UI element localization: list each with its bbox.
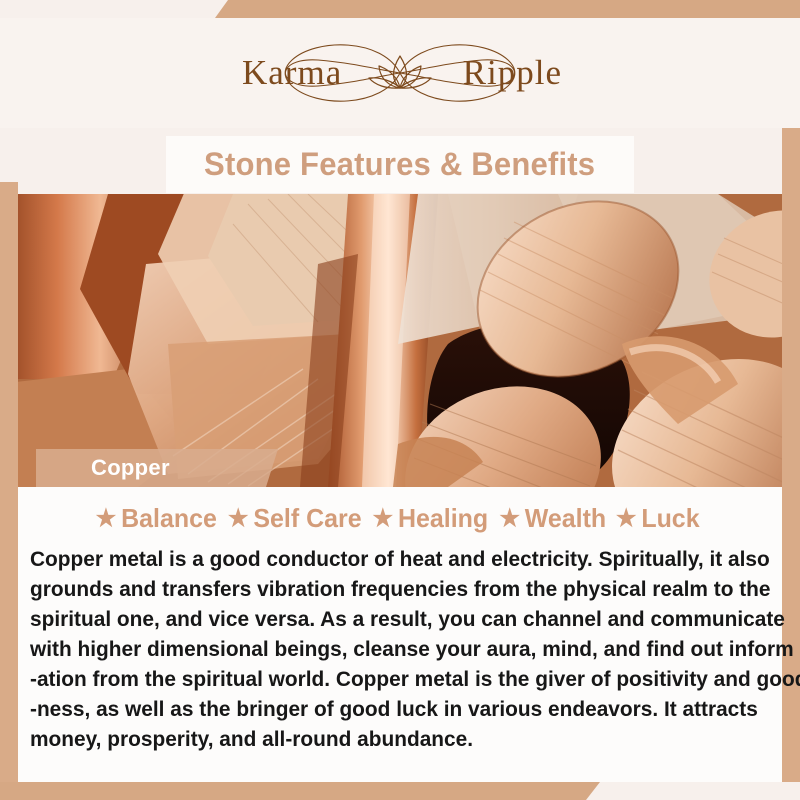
benefits-row: ★ Balance ★ Self Care ★ Healing ★ Wealth…	[18, 487, 782, 534]
description-line: spiritual one, and vice versa. As a resu…	[30, 604, 752, 634]
benefit-item-healing: ★ Healing	[373, 503, 494, 534]
description-line: with higher dimensional beings, cleanse …	[30, 634, 752, 664]
star-icon: ★	[499, 507, 520, 531]
benefit-item-wealth: ★ Wealth	[499, 503, 612, 534]
title-panel: Stone Features & Benefits	[166, 136, 634, 193]
logo-word-ripple: Ripple	[463, 53, 562, 93]
benefit-label: Wealth	[525, 503, 606, 534]
description-line: money, prosperity, and all-round abundan…	[30, 724, 752, 754]
brand-logo: Karma Ripple	[230, 30, 570, 116]
top-accent-band	[215, 0, 800, 18]
benefit-label: Healing	[398, 503, 488, 534]
benefit-label: Balance	[121, 503, 217, 534]
benefit-label: Self Care	[253, 503, 361, 534]
star-icon: ★	[616, 507, 637, 531]
copper-bars-image	[18, 194, 782, 487]
benefit-item-luck: ★ Luck	[616, 503, 705, 534]
star-icon: ★	[228, 507, 249, 531]
benefit-item-balance: ★ Balance	[95, 503, 222, 534]
product-info-card: Karma Ripple Stone Features & Benefits	[0, 0, 800, 800]
copper-photo: Copper	[18, 194, 782, 487]
photo-caption-band: Copper	[36, 449, 278, 487]
description-line: Copper metal is a good conductor of heat…	[30, 544, 752, 574]
page-title: Stone Features & Benefits	[204, 146, 595, 183]
benefit-item-self-care: ★ Self Care	[228, 503, 367, 534]
left-accent-rail	[0, 182, 18, 782]
brand-header: Karma Ripple	[0, 18, 800, 128]
photo-caption-label: Copper	[91, 455, 170, 481]
bottom-accent-band	[0, 782, 600, 800]
content-panel: ★ Balance ★ Self Care ★ Healing ★ Wealth…	[18, 487, 782, 782]
description-text: Copper metal is a good conductor of heat…	[30, 544, 752, 754]
star-icon: ★	[373, 507, 394, 531]
logo-word-karma: Karma	[242, 53, 342, 93]
description-line: -ation from the spiritual world. Copper …	[30, 664, 752, 694]
description-line: -ness, as well as the bringer of good lu…	[30, 694, 752, 724]
star-icon: ★	[95, 507, 116, 531]
description-line: grounds and transfers vibration frequenc…	[30, 574, 752, 604]
benefit-label: Luck	[641, 503, 699, 534]
